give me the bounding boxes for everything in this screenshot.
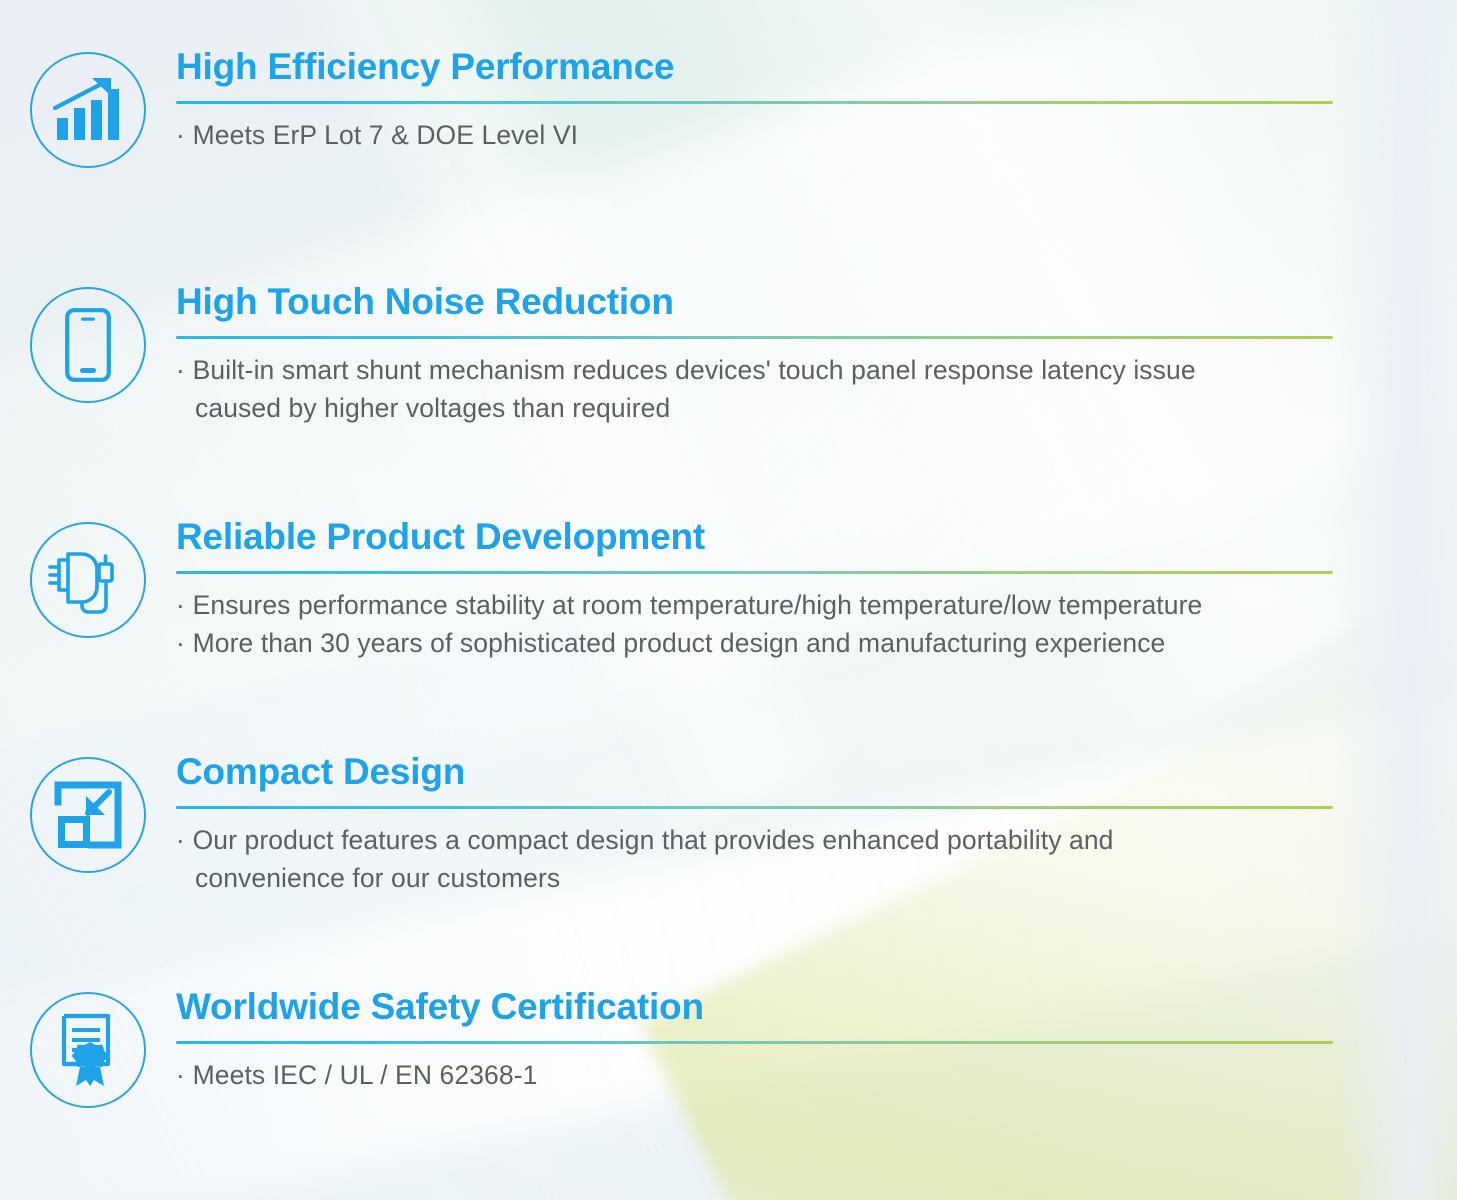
bullet-text: More than 30 years of sophisticated prod…: [193, 628, 1166, 658]
growth-chart-icon: [30, 52, 146, 168]
bullet-marker: ·: [176, 355, 185, 385]
feature-icon-container: [0, 988, 176, 1108]
bullet-marker: ·: [176, 628, 185, 658]
feature-divider: [176, 336, 1333, 339]
feature-icon-container: [0, 518, 176, 638]
feature-item-reliable-product-development: Reliable Product Development · Ensures p…: [0, 518, 1457, 662]
smartphone-icon: [30, 287, 146, 403]
feature-item-high-efficiency-performance: High Efficiency Performance · Meets ErP …: [0, 48, 1457, 168]
feature-body: Worldwide Safety Certification · Meets I…: [176, 988, 1457, 1095]
bullet-marker: ·: [176, 1060, 185, 1090]
compact-resize-icon: [30, 757, 146, 873]
feature-body: High Efficiency Performance · Meets ErP …: [176, 48, 1457, 155]
feature-divider: [176, 1041, 1333, 1044]
bullet-continuation: convenience for our customers: [176, 860, 1397, 898]
bullet-text: Built-in smart shunt mechanism reduces d…: [193, 355, 1196, 385]
feature-item-worldwide-safety-certification: Worldwide Safety Certification · Meets I…: [0, 988, 1457, 1108]
feature-bullets: · Our product features a compact design …: [176, 822, 1397, 897]
feature-body: Reliable Product Development · Ensures p…: [176, 518, 1457, 662]
feature-bullets: · Ensures performance stability at room …: [176, 587, 1397, 662]
feature-title: High Touch Noise Reduction: [176, 283, 1397, 320]
feature-divider: [176, 101, 1333, 104]
feature-item-compact-design: Compact Design · Our product features a …: [0, 753, 1457, 897]
bullet-marker: ·: [176, 825, 185, 855]
bullet-text: Our product features a compact design th…: [193, 825, 1114, 855]
certificate-icon: [30, 992, 146, 1108]
feature-divider: [176, 571, 1333, 574]
feature-title: High Efficiency Performance: [176, 48, 1397, 85]
bullet-marker: ·: [176, 120, 185, 150]
feature-body: High Touch Noise Reduction · Built-in sm…: [176, 283, 1457, 427]
bullet-item: · Built-in smart shunt mechanism reduces…: [176, 352, 1397, 390]
bullet-text: Ensures performance stability at room te…: [193, 590, 1203, 620]
feature-divider: [176, 806, 1333, 809]
feature-icon-container: [0, 753, 176, 873]
feature-bullets: · Meets IEC / UL / EN 62368-1: [176, 1057, 1397, 1095]
power-adapter-icon: [30, 522, 146, 638]
feature-bullets: · Built-in smart shunt mechanism reduces…: [176, 352, 1397, 427]
feature-icon-container: [0, 48, 176, 168]
feature-body: Compact Design · Our product features a …: [176, 753, 1457, 897]
bullet-item: · Ensures performance stability at room …: [176, 587, 1397, 625]
feature-title: Compact Design: [176, 753, 1397, 790]
feature-icon-container: [0, 283, 176, 403]
bullet-text: Meets ErP Lot 7 & DOE Level VI: [193, 120, 578, 150]
feature-title: Worldwide Safety Certification: [176, 988, 1397, 1025]
feature-bullets: · Meets ErP Lot 7 & DOE Level VI: [176, 117, 1397, 155]
background-band-white-streak: [0, 655, 1457, 1200]
bullet-continuation: caused by higher voltages than required: [176, 390, 1397, 428]
bullet-item: · More than 30 years of sophisticated pr…: [176, 625, 1397, 663]
feature-item-high-touch-noise-reduction: High Touch Noise Reduction · Built-in sm…: [0, 283, 1457, 427]
bullet-item: · Meets ErP Lot 7 & DOE Level VI: [176, 117, 1397, 155]
bullet-marker: ·: [176, 590, 185, 620]
bullet-item: · Our product features a compact design …: [176, 822, 1397, 860]
bullet-text: Meets IEC / UL / EN 62368-1: [193, 1060, 538, 1090]
bullet-item: · Meets IEC / UL / EN 62368-1: [176, 1057, 1397, 1095]
feature-title: Reliable Product Development: [176, 518, 1397, 555]
